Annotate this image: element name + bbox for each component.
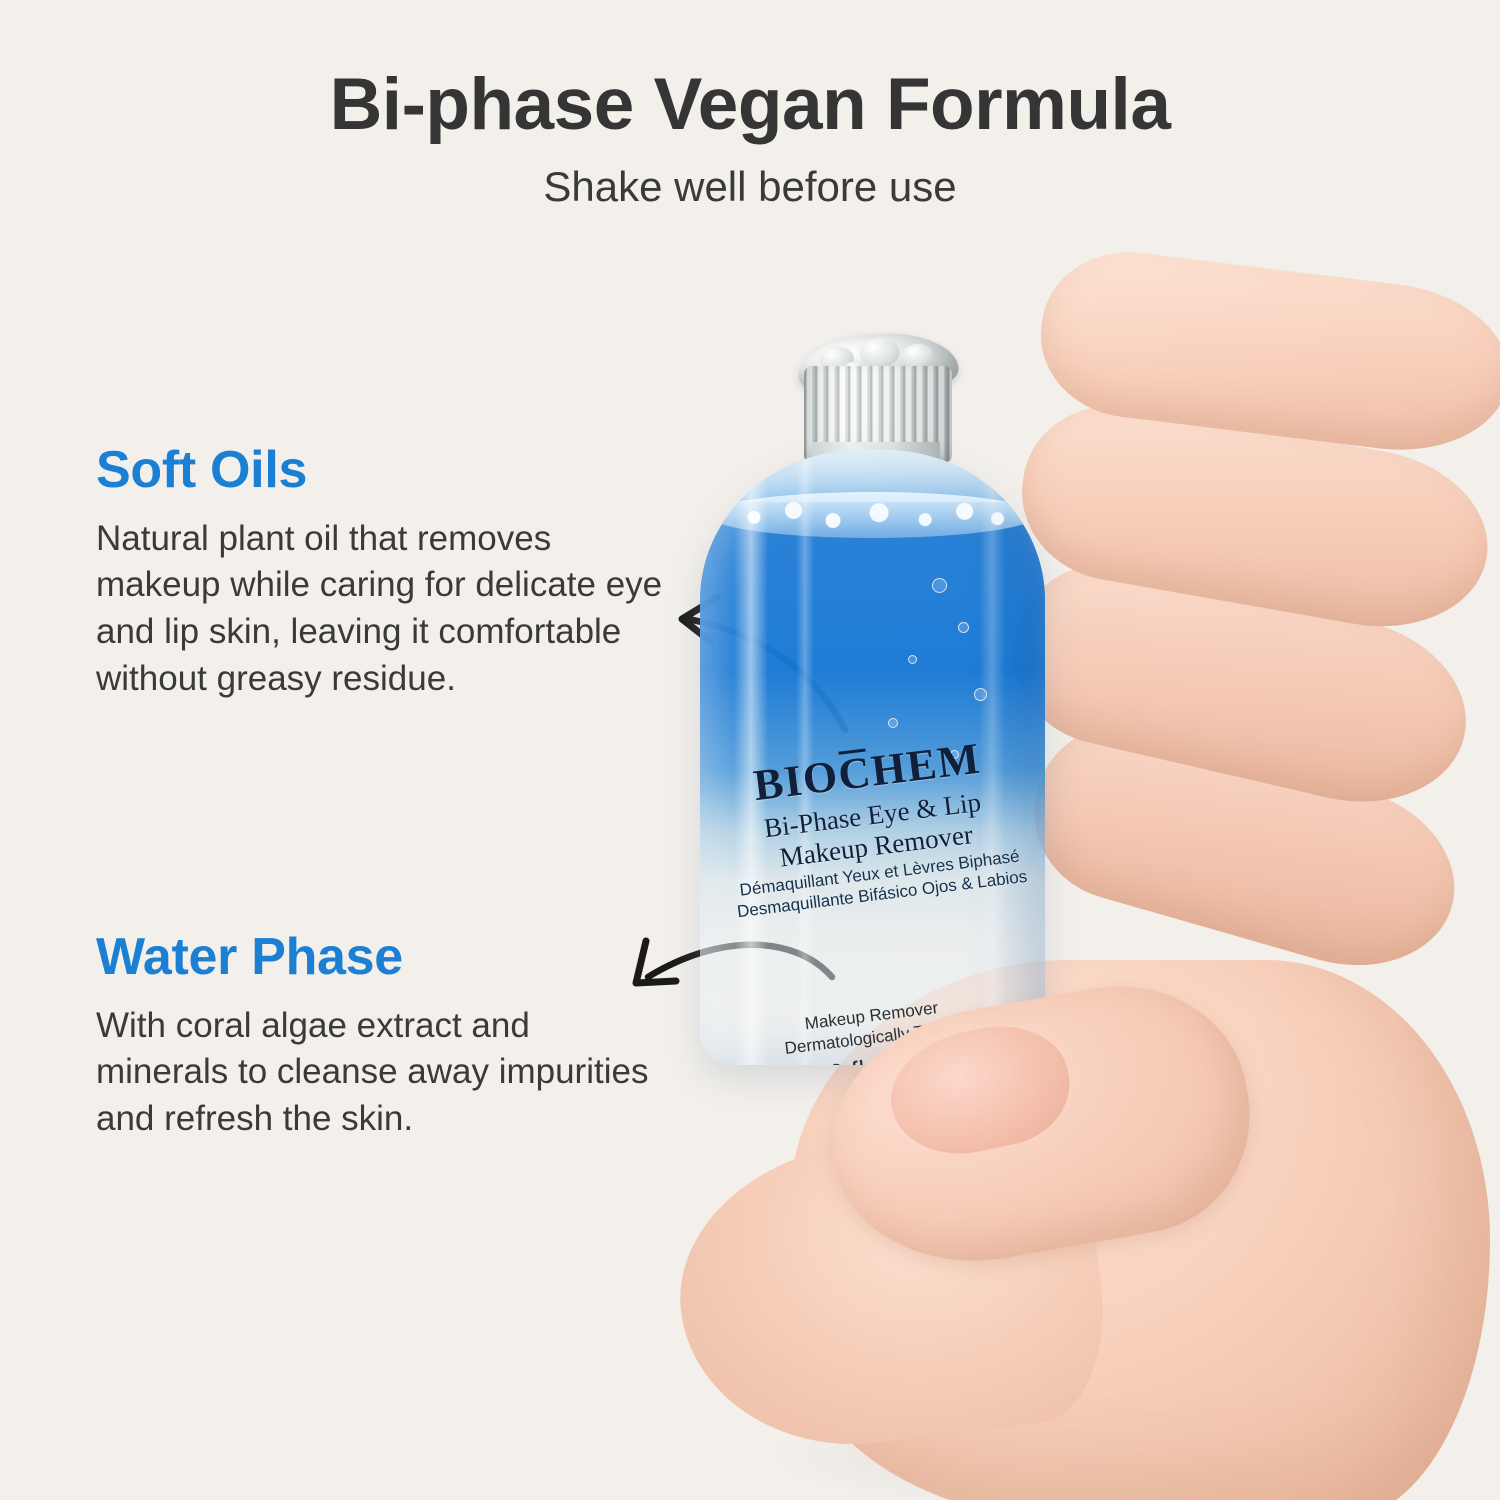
product-bottle: BIOCHEM Bi-Phase Eye & Lip Makeup Remove…	[700, 360, 1060, 1070]
page-subtitle: Shake well before use	[0, 141, 1500, 211]
brand-prefix: BIO	[751, 751, 842, 810]
liquid-bubble	[888, 718, 898, 728]
feature-body-soft-oils: Natural plant oil that removes makeup wh…	[96, 516, 666, 704]
feature-block-water-phase: Water Phase With coral algae extract and…	[96, 930, 696, 1143]
liquid-bubble	[974, 688, 987, 701]
cap-bump	[901, 343, 934, 369]
liquid-bubble	[932, 578, 947, 593]
brand-macron-letter: C	[836, 750, 874, 798]
glass-highlight	[734, 450, 768, 1065]
feature-heading-soft-oils: Soft Oils	[96, 443, 696, 498]
product-photo: BIOCHEM Bi-Phase Eye & Lip Makeup Remove…	[640, 240, 1500, 1500]
product-infographic: Bi-phase Vegan Formula Shake well before…	[0, 0, 1500, 1500]
liquid-bubble	[908, 655, 917, 664]
feature-heading-water-phase: Water Phase	[96, 930, 696, 985]
liquid-bubble	[958, 622, 969, 633]
feature-block-soft-oils: Soft Oils Natural plant oil that removes…	[96, 443, 696, 703]
header-block: Bi-phase Vegan Formula Shake well before…	[0, 0, 1500, 211]
bottle-body: BIOCHEM Bi-Phase Eye & Lip Makeup Remove…	[700, 450, 1045, 1065]
brand-suffix: HEM	[869, 734, 984, 796]
feature-body-water-phase: With coral algae extract and minerals to…	[96, 1003, 666, 1144]
page-title: Bi-phase Vegan Formula	[0, 68, 1500, 141]
